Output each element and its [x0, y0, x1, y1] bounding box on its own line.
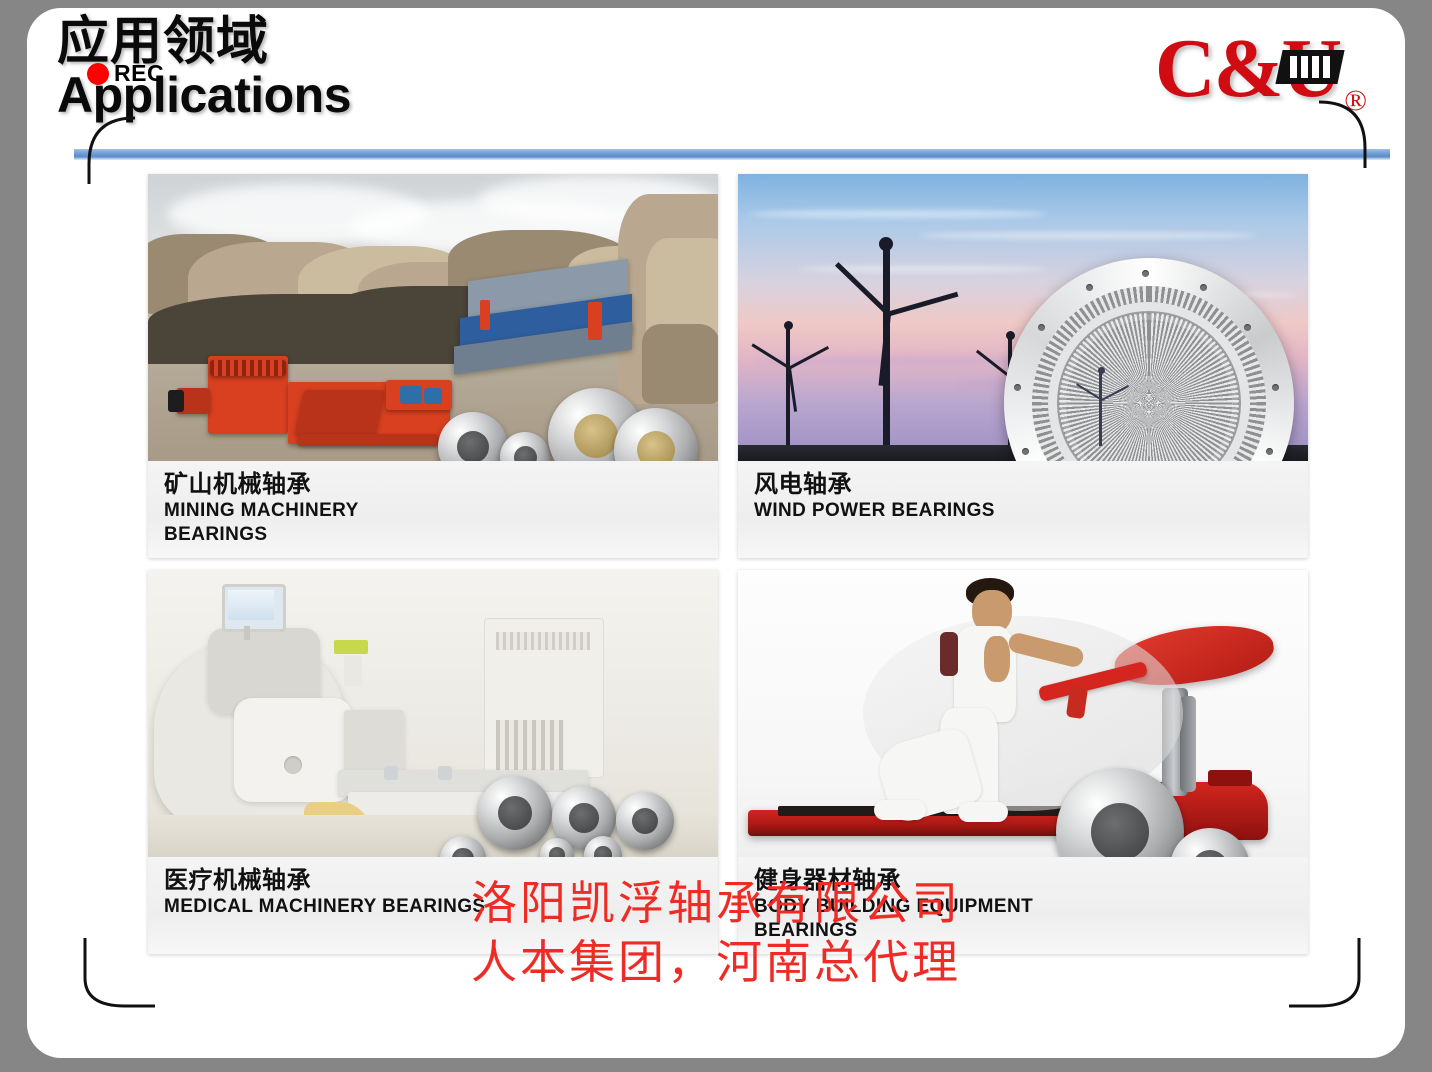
slide-canvas: 应用领域 Applications C&U ® REC — [27, 8, 1405, 1058]
wind-power-title-cn: 风电轴承 — [754, 471, 1292, 498]
rec-dot-icon — [87, 63, 109, 85]
application-card-body-building[interactable]: 健身器材轴承 BODY BUILDING EQUIPMENT BEARINGS — [738, 570, 1308, 954]
mining-machinery-image — [148, 174, 718, 461]
wind-power-caption: 风电轴承 WIND POWER BEARINGS — [738, 461, 1308, 558]
logo-bars-icon — [1275, 50, 1344, 84]
medical-machinery-image — [148, 570, 718, 857]
body-building-title-cn: 健身器材轴承 — [754, 867, 1292, 894]
mining-title-en-2: BEARINGS — [164, 524, 702, 546]
rec-indicator: REC — [87, 60, 164, 87]
medical-title-en-1: MEDICAL MACHINERY BEARINGS — [164, 896, 702, 918]
mining-caption: 矿山机械轴承 MINING MACHINERY BEARINGS — [148, 461, 718, 558]
bracket-top-left — [75, 116, 145, 186]
bracket-bottom-left — [69, 936, 159, 1016]
medical-title-cn: 医疗机械轴承 — [164, 867, 702, 894]
mining-title-en-1: MINING MACHINERY — [164, 500, 702, 522]
mining-title-cn: 矿山机械轴承 — [164, 471, 702, 498]
rec-label: REC — [114, 60, 164, 87]
bracket-top-right — [1315, 90, 1385, 170]
applications-grid: 矿山机械轴承 MINING MACHINERY BEARINGS — [148, 174, 1308, 974]
application-card-medical[interactable]: 医疗机械轴承 MEDICAL MACHINERY BEARINGS — [148, 570, 718, 954]
header-divider — [74, 149, 1390, 160]
body-building-equipment-image — [738, 570, 1308, 857]
wind-power-title-en-1: WIND POWER BEARINGS — [754, 500, 1292, 522]
body-building-title-en-2: BEARINGS — [754, 920, 1292, 942]
wind-power-image — [738, 174, 1308, 461]
body-building-caption: 健身器材轴承 BODY BUILDING EQUIPMENT BEARINGS — [738, 857, 1308, 954]
body-building-title-en-1: BODY BUILDING EQUIPMENT — [754, 896, 1292, 918]
application-card-wind-power[interactable]: 风电轴承 WIND POWER BEARINGS — [738, 174, 1308, 558]
medical-caption: 医疗机械轴承 MEDICAL MACHINERY BEARINGS — [148, 857, 718, 954]
application-card-mining[interactable]: 矿山机械轴承 MINING MACHINERY BEARINGS — [148, 174, 718, 558]
slide-header: 应用领域 Applications C&U ® — [27, 8, 1405, 158]
